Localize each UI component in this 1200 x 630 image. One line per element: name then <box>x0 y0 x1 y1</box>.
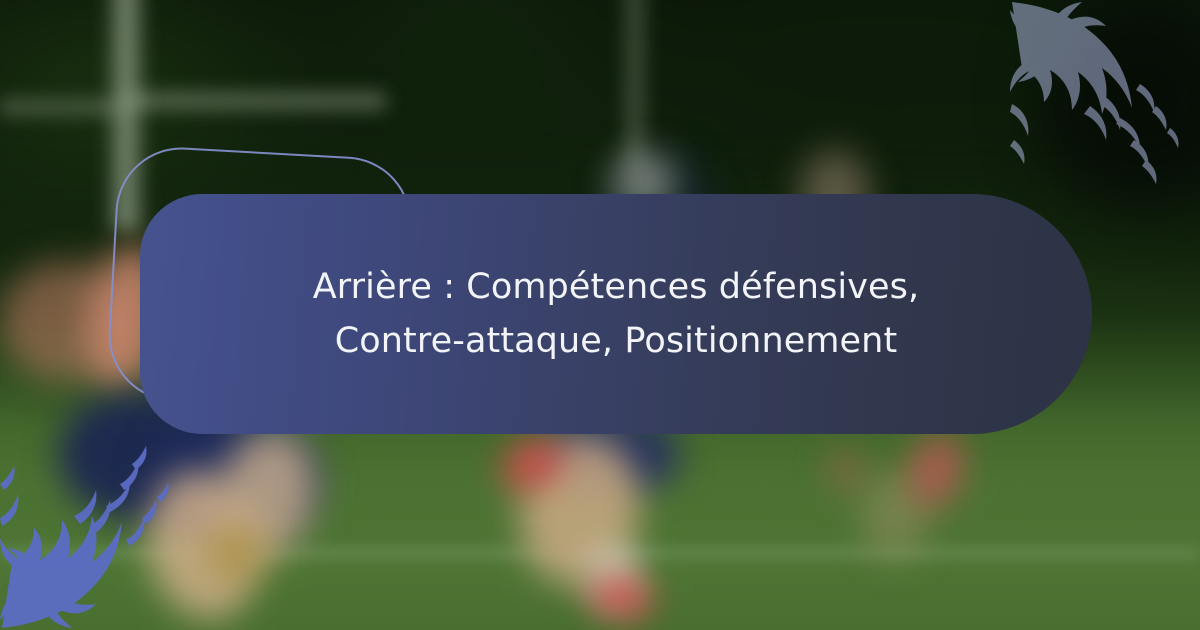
goal-post-vertical-far <box>620 0 650 170</box>
card-title-line-1: Arrière : Compétences défensives, <box>200 260 1032 314</box>
card-title-line-2: Contre-attaque, Positionnement <box>200 314 1032 368</box>
card-title: Arrière : Compétences défensives, Contre… <box>140 260 1092 369</box>
player-boot-left <box>206 524 264 580</box>
goal-post-crossbar-left <box>0 96 120 118</box>
player-boot-right-b <box>826 450 866 490</box>
title-card: Arrière : Compétences défensives, Contre… <box>140 194 1092 434</box>
goal-post-crossbar <box>126 88 386 114</box>
screenshot-canvas: Arrière : Compétences défensives, Contre… <box>0 0 1200 630</box>
